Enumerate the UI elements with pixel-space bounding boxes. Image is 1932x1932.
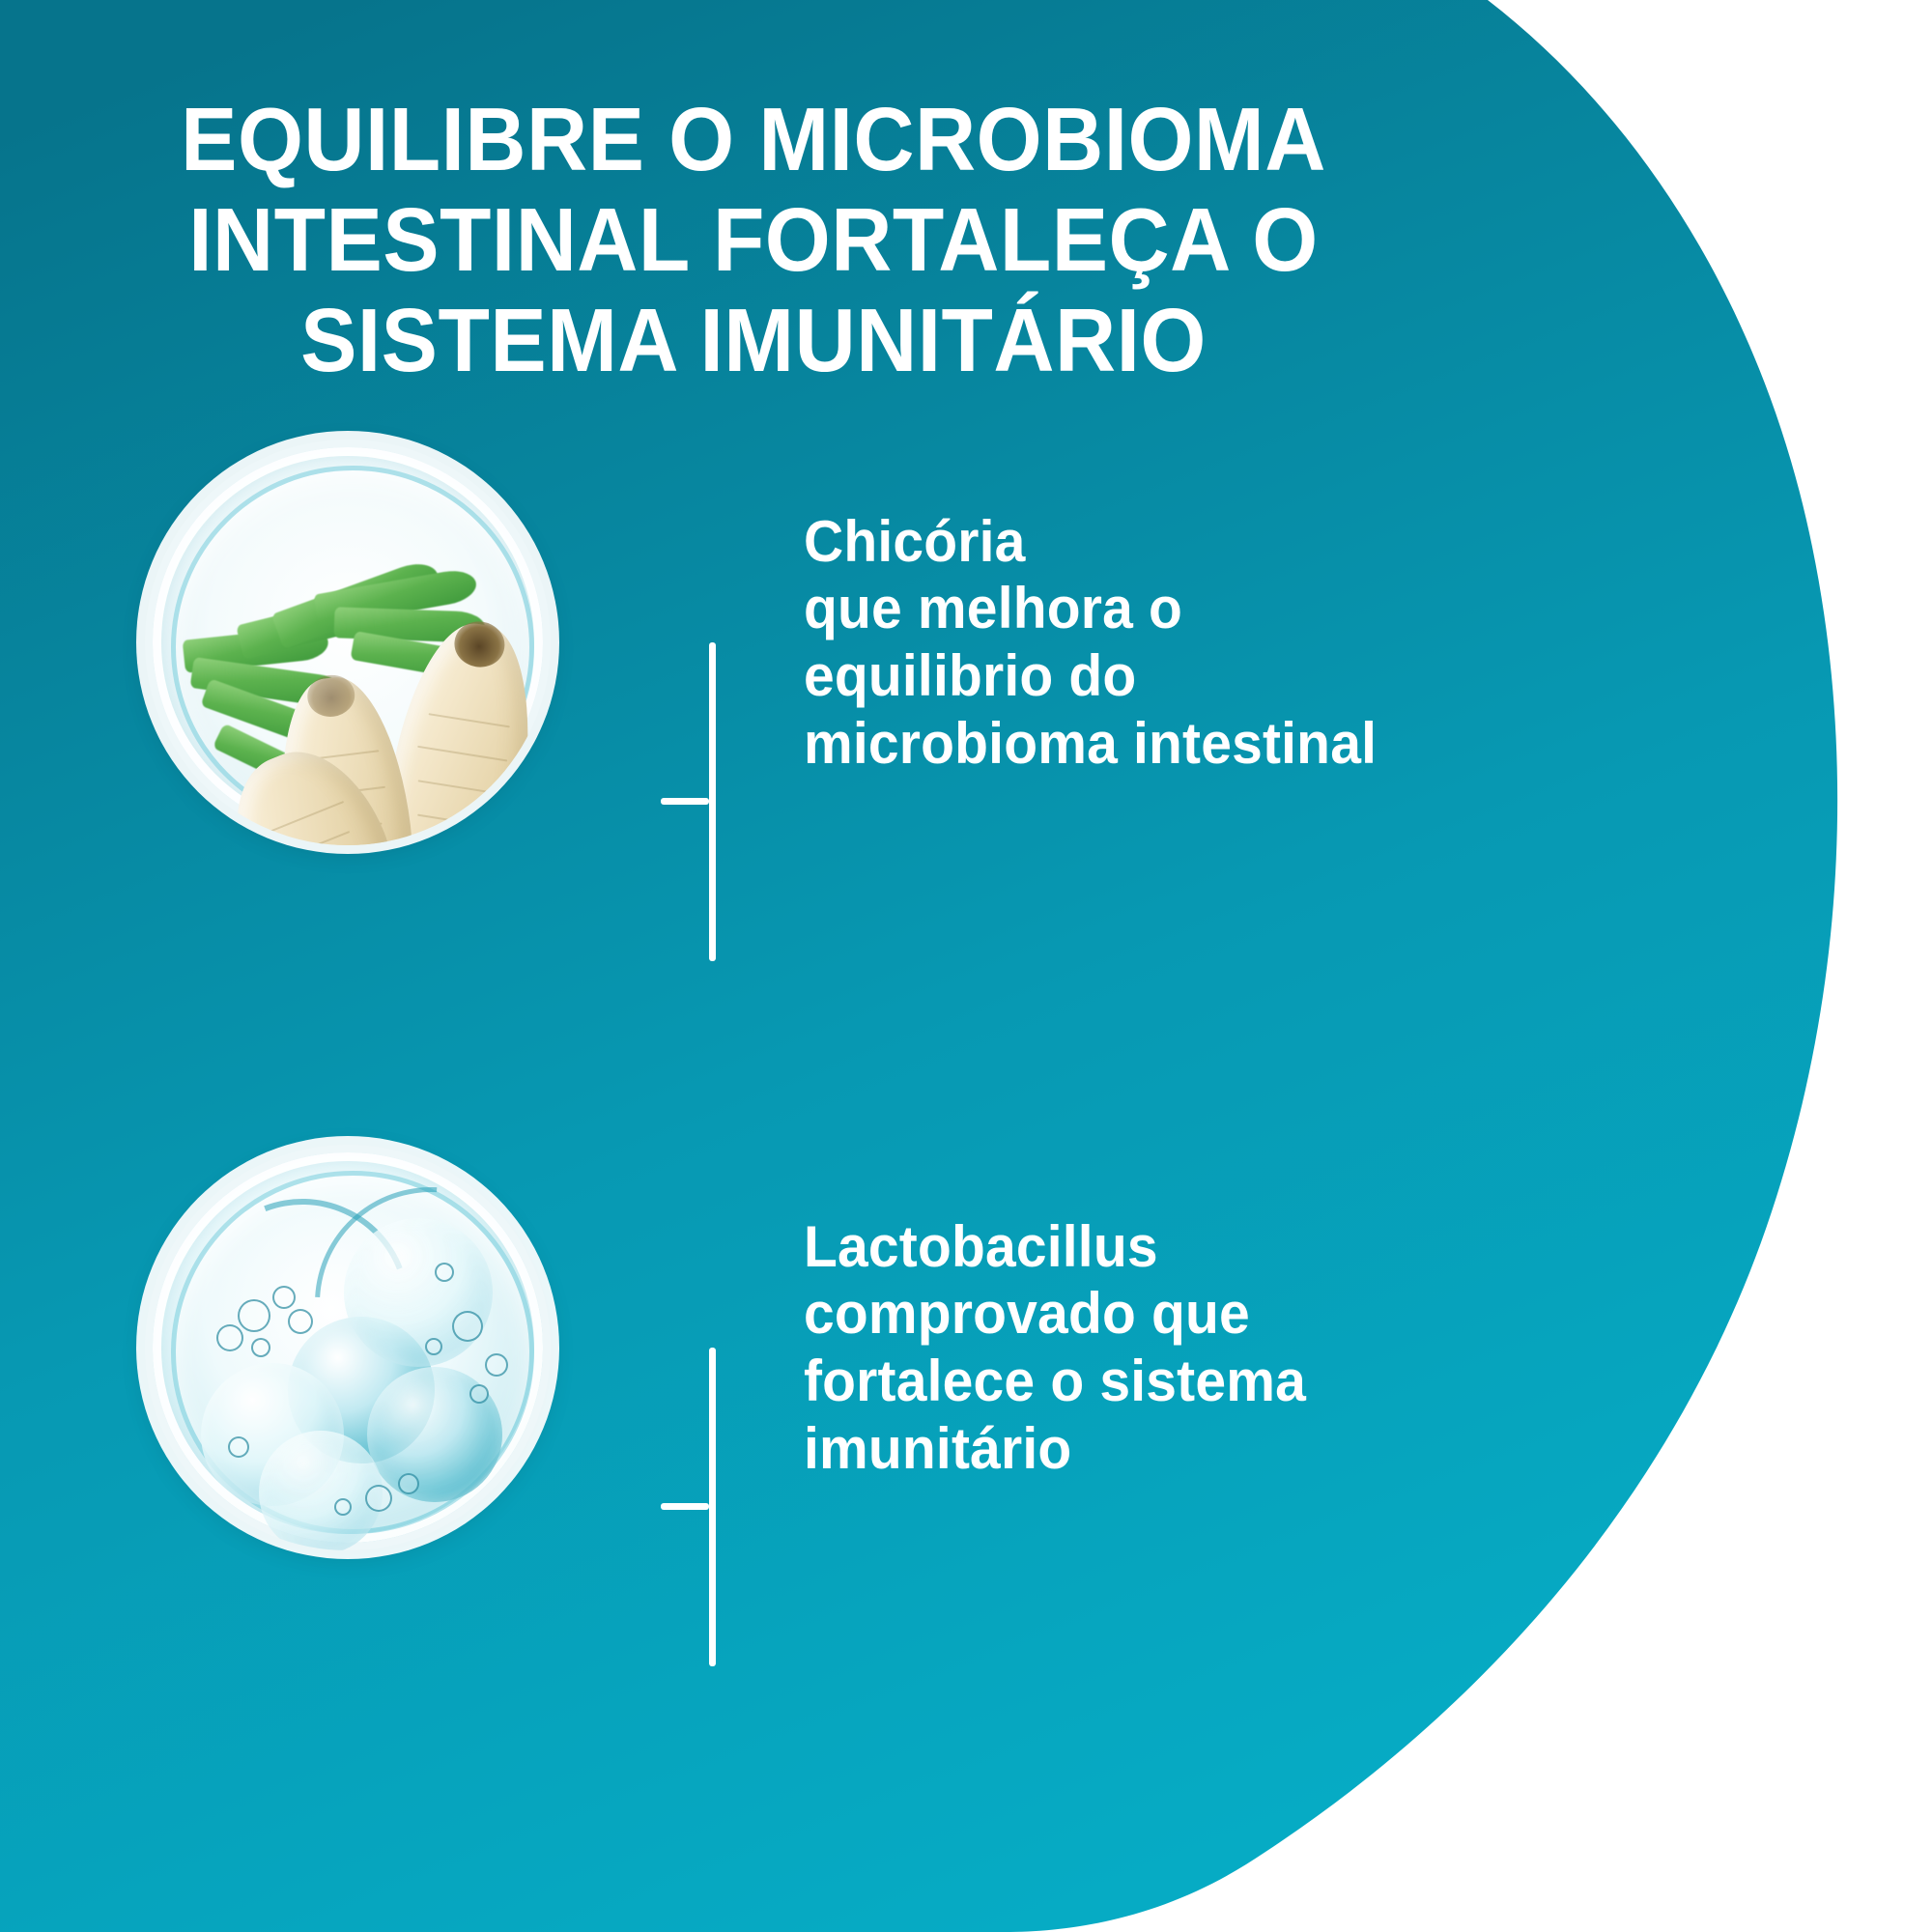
- feature-body-chicoria: que melhora o equilibrio do microbioma i…: [804, 576, 1377, 775]
- feature-item-lactobacillus: Lactobacillus comprovado que fortalece o…: [145, 1145, 1332, 1550]
- gel-mini-bubble: [288, 1309, 313, 1334]
- gel-mini-bubble: [238, 1299, 270, 1332]
- bracket-vertical-line: [709, 1348, 716, 1666]
- title-line-2: INTESTINAL FORTALEÇA O: [45, 189, 1462, 290]
- poster-canvas: EQUILIBRE O MICROBIOMA INTESTINAL FORTAL…: [0, 0, 1932, 1932]
- gel-mini-bubble: [425, 1338, 442, 1355]
- gel-mini-bubble: [365, 1485, 392, 1512]
- gel-mini-bubble: [485, 1353, 508, 1377]
- gel-mini-bubble: [216, 1324, 243, 1351]
- gel-mini-bubble: [228, 1436, 249, 1458]
- feature-heading-lactobacillus: Lactobacillus: [804, 1214, 1158, 1279]
- bracket-vertical-line: [709, 642, 716, 961]
- gel-mini-bubble: [251, 1338, 270, 1357]
- bracket-tick-line: [661, 1503, 709, 1510]
- gel-bubble: [344, 1218, 493, 1367]
- feature-text-lactobacillus: Lactobacillus comprovado que fortalece o…: [804, 1213, 1306, 1482]
- gel-bubble: [259, 1431, 383, 1550]
- gel-mini-bubble: [435, 1263, 454, 1282]
- bracket-tick-line: [661, 798, 709, 805]
- feature-heading-chicoria: Chicória: [804, 509, 1026, 574]
- title-line-3: SISTEMA IMUNITÁRIO: [45, 290, 1462, 390]
- gel-mini-bubble: [272, 1286, 296, 1309]
- gel-mini-bubble: [469, 1384, 489, 1404]
- page-title: EQUILIBRE O MICROBIOMA INTESTINAL FORTAL…: [45, 89, 1462, 390]
- lactobacillus-petri-dish-image: [145, 1145, 551, 1550]
- feature-text-chicoria: Chicória que melhora o equilibrio do mic…: [804, 508, 1377, 777]
- gel-mini-bubble: [334, 1498, 352, 1516]
- feature-body-lactobacillus: comprovado que fortalece o sistema imuni…: [804, 1281, 1306, 1480]
- title-line-1: EQUILIBRE O MICROBIOMA: [45, 89, 1462, 189]
- gel-mini-bubble: [398, 1473, 419, 1494]
- feature-item-chicoria: Chicória que melhora o equilibrio do mic…: [145, 440, 1406, 845]
- chicory-petri-dish-image: [145, 440, 551, 845]
- gel-mini-bubble: [452, 1311, 483, 1342]
